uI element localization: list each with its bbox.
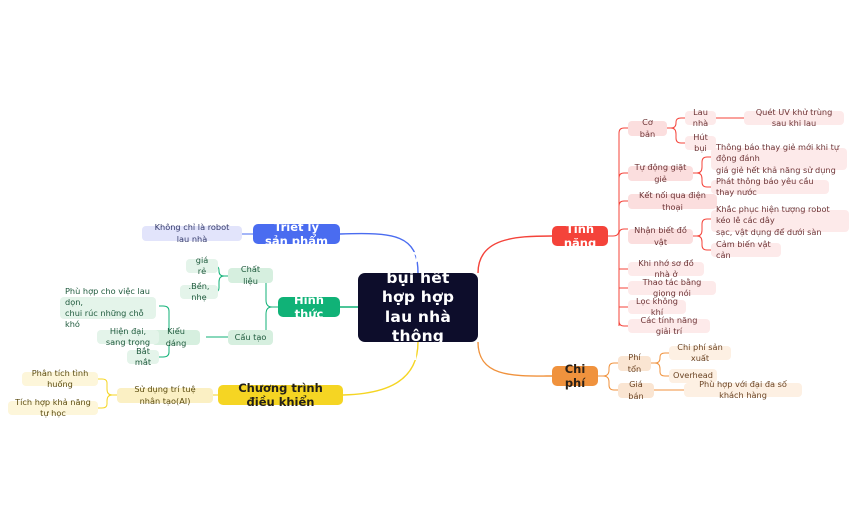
- node-phan-tich-tinh-huong[interactable]: Phân tích tình huống: [22, 372, 98, 386]
- node-ket-noi-qua-dien-thoai[interactable]: Kết nối qua điện thoại: [628, 194, 717, 209]
- branch-triet-ly-san-pham[interactable]: Triết lý sản phẩm: [253, 224, 340, 244]
- node-cac-tinh-nang-giai-tri[interactable]: Các tính năng giải trí: [628, 319, 710, 333]
- branch-tinh-nang[interactable]: Tính năng: [552, 226, 608, 246]
- node-su-dung-tri-tue-nhan-tao[interactable]: Sử dụng trí tuệ nhân tạo(AI): [117, 388, 213, 403]
- node-phu-hop-dai-da-so-khach-hang[interactable]: Phù hợp với đại đa số khách hàng: [684, 383, 802, 397]
- node-thong-bao-thay-gie[interactable]: Thông báo thay giẻ mới khi tự động đánh …: [711, 148, 847, 170]
- node-quet-uv-khu-trung[interactable]: Quét UV khử trùng sau khi lau: [744, 111, 844, 125]
- node-tich-hop-kha-nang-tu-hoc[interactable]: Tích hợp khả năng tự học: [8, 401, 98, 415]
- node-hien-dai-sang-trong[interactable]: Hiện đại, sang trọng: [97, 330, 159, 344]
- node-ben-nhe[interactable]: .Bền, nhẹ: [180, 285, 218, 299]
- node-gia-re[interactable]: giá rẻ: [186, 259, 218, 273]
- node-lau-nha[interactable]: Lau nhà: [685, 111, 716, 125]
- node-khi-nho-so-do-nha-o[interactable]: Khi nhớ sơ đồ nhà ở: [628, 262, 704, 276]
- node-hut-bui[interactable]: Hút bụi: [685, 136, 716, 150]
- node-chat-lieu[interactable]: Chất liệu: [228, 268, 273, 283]
- mindmap-canvas: ROBOT hút bụi hết hợp hợp lau nhà thông …: [0, 0, 855, 529]
- node-thao-tac-bang-giong-noi[interactable]: Thao tác bằng giọng nói: [628, 281, 716, 295]
- node-phi-ton[interactable]: Phí tổn: [618, 356, 651, 371]
- node-kieu-dang[interactable]: Kiểu dáng: [152, 330, 200, 345]
- node-gia-ban[interactable]: Giá bán: [618, 383, 654, 398]
- node-nhan-biet-do-vat[interactable]: Nhận biết đồ vật: [628, 229, 693, 244]
- node-chi-phi-san-xuat[interactable]: Chi phí sản xuất: [669, 346, 731, 360]
- node-tu-dong-giat-gie[interactable]: Tự động giặt giẻ: [628, 166, 693, 181]
- branch-hinh-thuc[interactable]: Hình thức: [278, 297, 340, 317]
- node-cam-bien-vat-can[interactable]: Cảm biến vật cản: [711, 243, 781, 257]
- node-phu-hop-lau-don[interactable]: Phù hợp cho việc lau dọn, chui rúc những…: [60, 297, 156, 319]
- node-phat-thong-bao-thay-nuoc[interactable]: Phát thông báo yêu cầu thay nước: [711, 180, 829, 194]
- node-khong-chi-la-robot-lau-nha[interactable]: Không chỉ là robot lau nhà: [142, 226, 242, 241]
- branch-chi-phi[interactable]: Chi phí: [552, 366, 598, 386]
- branch-chuong-trinh-dieu-khien[interactable]: Chương trình điều khiển: [218, 385, 343, 405]
- node-loc-khong-khi[interactable]: Lọc không khí: [628, 300, 686, 314]
- node-khac-phuc-keo-le-day-sac[interactable]: Khắc phục hiện tượng robot kéo lê các dâ…: [711, 210, 849, 232]
- central-node[interactable]: ROBOT hút bụi hết hợp hợp lau nhà thông …: [358, 273, 478, 342]
- node-co-ban[interactable]: Cơ bản: [628, 121, 667, 136]
- node-bat-mat[interactable]: Bắt mắt: [127, 350, 159, 364]
- node-cau-tao[interactable]: Cấu tạo: [228, 330, 273, 345]
